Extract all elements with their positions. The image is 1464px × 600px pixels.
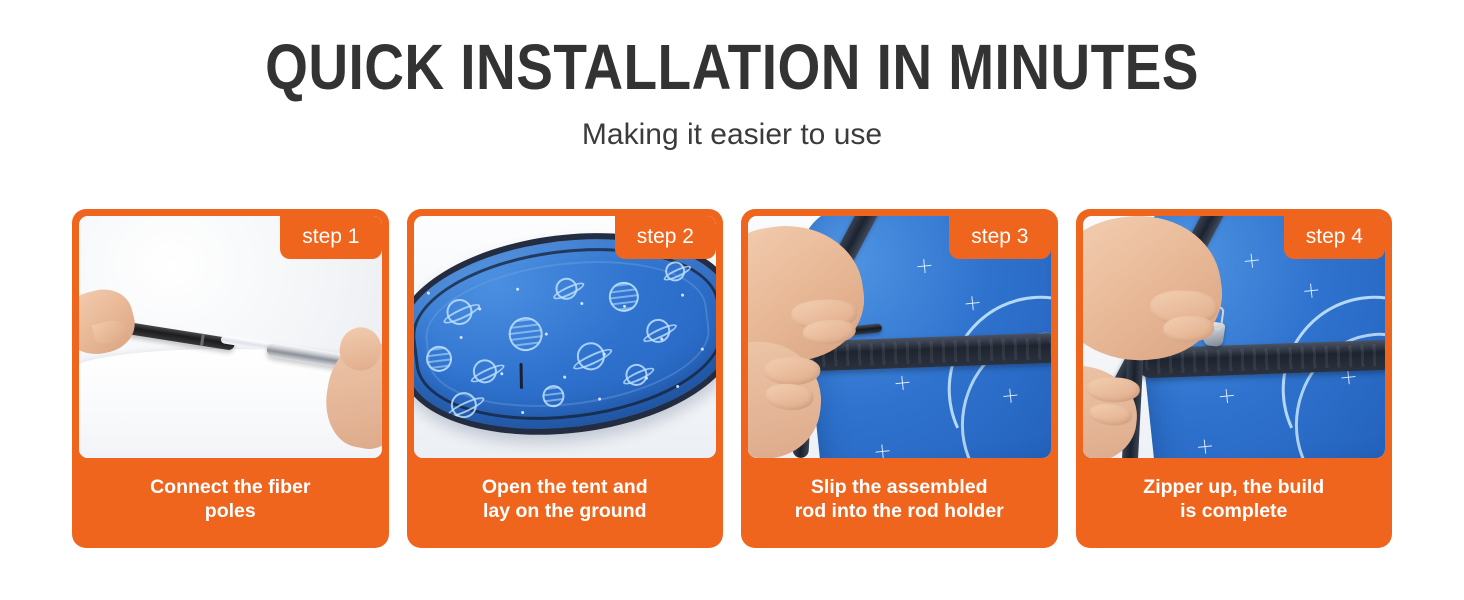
step-2-caption: Open the tent and lay on the ground: [414, 458, 717, 548]
step-3-badge: step 3: [949, 216, 1050, 259]
step-2-photo: step 2: [414, 216, 717, 458]
step-4-caption: Zipper up, the build is complete: [1083, 458, 1386, 548]
step-4-badge: step 4: [1284, 216, 1385, 259]
step-4-photo: step 4: [1083, 216, 1386, 458]
step-3-caption: Slip the assembled rod into the rod hold…: [748, 458, 1051, 548]
step-1-photo: step 1: [79, 216, 382, 458]
step-card-4[interactable]: step 4 Zipper up, the build is complete: [1076, 209, 1393, 548]
step-card-3[interactable]: step 3 Slip the assembled rod into the r…: [741, 209, 1058, 548]
step-card-1[interactable]: step 1 Connect the fiber poles: [72, 209, 389, 548]
page-title: QUICK INSTALLATION IN MINUTES: [102, 34, 1361, 100]
step-3-photo: step 3: [748, 216, 1051, 458]
step-1-caption: Connect the fiber poles: [79, 458, 382, 548]
installation-steps-banner: QUICK INSTALLATION IN MINUTES Making it …: [0, 0, 1464, 600]
step-2-badge: step 2: [615, 216, 716, 259]
steps-row: step 1 Connect the fiber poles: [72, 209, 1392, 548]
step-1-badge: step 1: [280, 216, 381, 259]
step-card-2[interactable]: step 2 Open the tent and lay on the grou…: [407, 209, 724, 548]
page-subtitle: Making it easier to use: [0, 118, 1464, 152]
banner-header: QUICK INSTALLATION IN MINUTES Making it …: [0, 0, 1464, 152]
